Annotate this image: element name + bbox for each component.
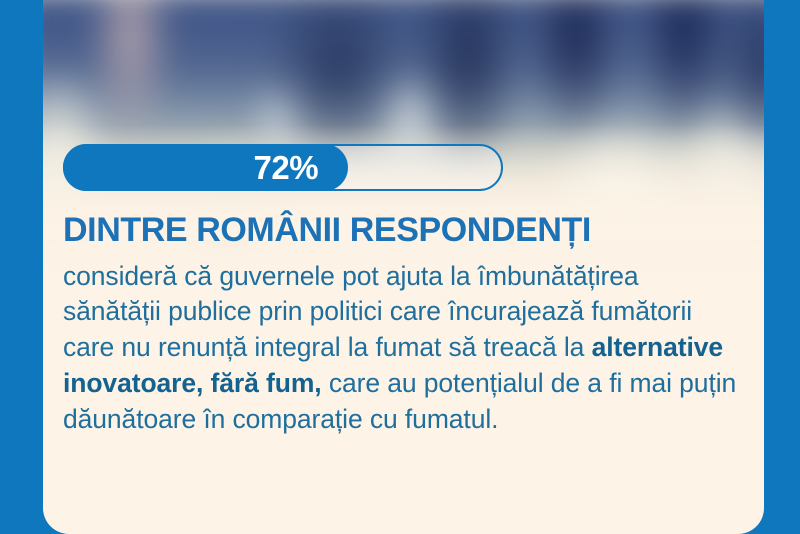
- photo-fade-overlay: [43, 0, 764, 240]
- headline: DINTRE ROMÂNII RESPONDENȚI: [63, 212, 743, 249]
- text-block: DINTRE ROMÂNII RESPONDENȚI consideră că …: [63, 212, 743, 438]
- progress-bar: 72%: [63, 144, 503, 191]
- infographic-card: 72% DINTRE ROMÂNII RESPONDENȚI consideră…: [0, 0, 800, 534]
- body-copy: consideră că guvernele pot ajuta la îmbu…: [63, 259, 743, 438]
- content-card: 72% DINTRE ROMÂNII RESPONDENȚI consideră…: [43, 0, 764, 534]
- progress-bar-fill: 72%: [63, 144, 348, 191]
- percent-label: 72%: [254, 151, 349, 184]
